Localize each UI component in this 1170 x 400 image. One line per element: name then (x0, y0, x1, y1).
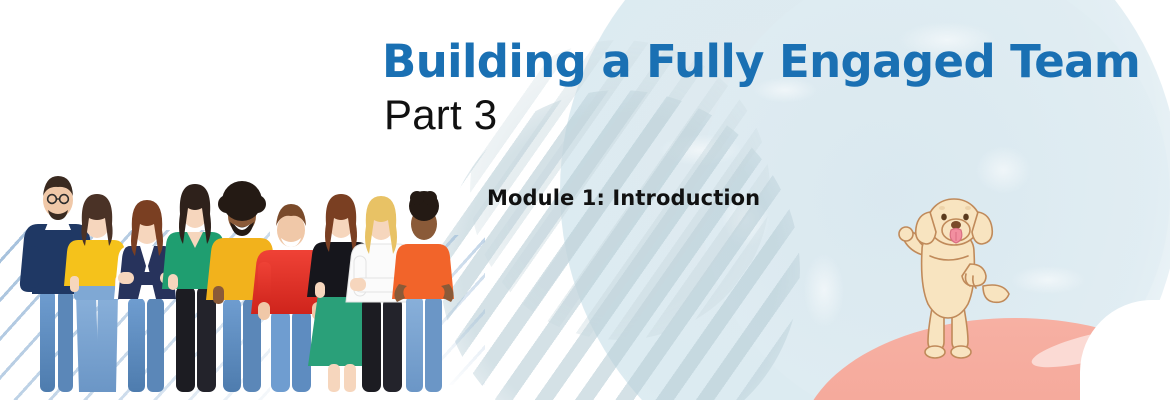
page-title: Building a Fully Engaged Team (382, 38, 1140, 85)
diverse-team-illustration (18, 168, 443, 400)
page-subtitle: Part 3 (384, 93, 1140, 137)
salmon-hill-highlight (1029, 321, 1152, 375)
banner-text-block: Building a Fully Engaged Team Part 3 (382, 38, 1140, 137)
course-banner: Building a Fully Engaged Team Part 3 Mod… (0, 0, 1170, 400)
dancing-golden-retriever-illustration (878, 190, 1028, 365)
white-corner-wedge (1080, 300, 1170, 400)
module-label: Module 1: Introduction (487, 186, 760, 210)
team-person-3 (114, 200, 178, 392)
